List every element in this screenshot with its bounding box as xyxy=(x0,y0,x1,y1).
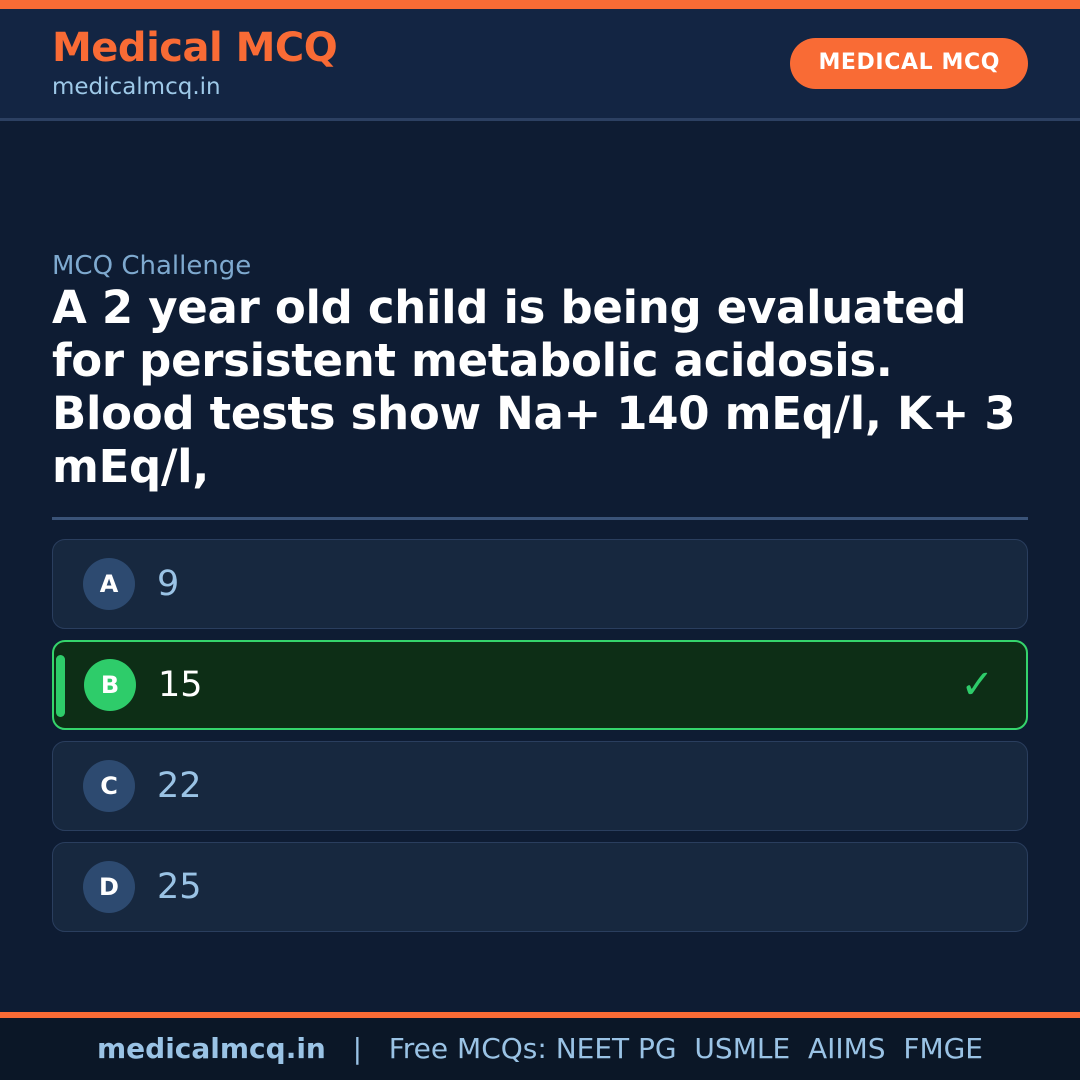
footer-tagline: Free MCQs: NEET PG USMLE AIIMS FMGE xyxy=(389,1033,983,1065)
brand-block: Medical MCQ medicalmcq.in xyxy=(52,25,337,102)
correct-accent-bar xyxy=(56,655,65,717)
footer-bar: medicalmcq.in | Free MCQs: NEET PG USMLE… xyxy=(0,1018,1080,1080)
brand-subtitle: medicalmcq.in xyxy=(52,72,337,102)
option-label: 15 xyxy=(158,665,203,705)
mcq-kicker-label: MCQ Challenge xyxy=(52,251,251,281)
option-letter-badge: A xyxy=(83,558,135,610)
option-letter-badge: D xyxy=(83,861,135,913)
option-row-d[interactable]: D 25 ✓ xyxy=(52,842,1028,932)
option-row-c[interactable]: C 22 ✓ xyxy=(52,741,1028,831)
check-icon: ✓ xyxy=(960,665,994,705)
footer-separator: | xyxy=(326,1033,389,1065)
option-row-a[interactable]: A 9 ✓ xyxy=(52,539,1028,629)
mcq-card: Medical MCQ medicalmcq.in MEDICAL MCQ MC… xyxy=(0,0,1080,1080)
option-row-b[interactable]: B 15 ✓ xyxy=(52,640,1028,730)
option-label: 22 xyxy=(157,766,202,806)
option-label: 9 xyxy=(157,564,179,604)
brand-title: Medical MCQ xyxy=(52,25,337,71)
footer-site-link[interactable]: medicalmcq.in xyxy=(97,1033,326,1065)
option-letter-badge: C xyxy=(83,760,135,812)
header-badge: MEDICAL MCQ xyxy=(790,38,1028,89)
option-letter-badge: B xyxy=(84,659,136,711)
header-bar: Medical MCQ medicalmcq.in MEDICAL MCQ xyxy=(0,9,1080,121)
option-label: 25 xyxy=(157,867,202,907)
top-accent-rule xyxy=(0,0,1080,9)
options-list: A 9 ✓ B 15 ✓ C 22 ✓ D 25 ✓ xyxy=(52,539,1028,932)
question-text: A 2 year old child is being evaluated fo… xyxy=(52,281,1042,493)
question-divider xyxy=(52,517,1028,520)
main-content: MCQ Challenge A 2 year old child is bein… xyxy=(0,121,1080,1012)
